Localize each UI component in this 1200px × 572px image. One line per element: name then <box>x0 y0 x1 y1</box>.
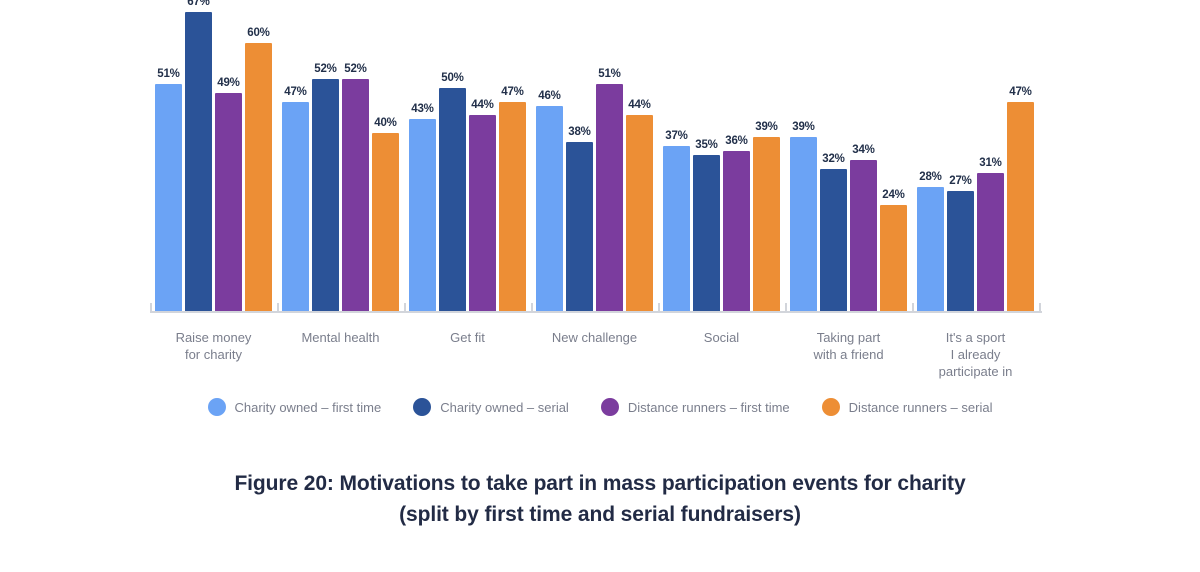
bar-column[interactable]: 34% <box>850 12 877 312</box>
bar-column[interactable]: 50% <box>439 12 466 312</box>
bar-column[interactable]: 40% <box>372 12 399 312</box>
bar[interactable] <box>566 142 593 312</box>
bar-value-label: 51% <box>157 68 179 80</box>
bar[interactable] <box>977 173 1004 312</box>
bar-column[interactable]: 47% <box>1007 12 1034 312</box>
bar-value-label: 43% <box>411 103 433 115</box>
bar[interactable] <box>155 84 182 312</box>
bar-value-label: 47% <box>1009 86 1031 98</box>
bar-column[interactable]: 24% <box>880 12 907 312</box>
bar[interactable] <box>439 88 466 312</box>
legend-color-swatch-icon <box>413 398 431 416</box>
category-label: Social <box>658 329 785 380</box>
bar[interactable] <box>215 93 242 312</box>
bar-value-label: 37% <box>665 130 687 142</box>
bar-column[interactable]: 37% <box>663 12 690 312</box>
category-label: Raise moneyfor charity <box>150 329 277 380</box>
bar-value-label: 67% <box>187 0 209 8</box>
bar-value-label: 39% <box>792 121 814 133</box>
bar[interactable] <box>282 102 309 312</box>
category-label-line: Taking part <box>785 329 912 346</box>
bar[interactable] <box>663 146 690 312</box>
category-label-line: participate in <box>912 363 1039 380</box>
bar[interactable] <box>409 119 436 312</box>
bar[interactable] <box>342 79 369 312</box>
legend-item[interactable]: Charity owned – first time <box>208 398 382 416</box>
bar-value-label: 50% <box>441 72 463 84</box>
bar[interactable] <box>790 137 817 312</box>
bar[interactable] <box>626 115 653 312</box>
axis-tick <box>150 303 152 312</box>
bar-value-label: 51% <box>598 68 620 80</box>
axis-tick <box>658 303 660 312</box>
bar-column[interactable]: 51% <box>596 12 623 312</box>
legend-color-swatch-icon <box>601 398 619 416</box>
legend-label: Distance runners – first time <box>628 400 790 415</box>
bar-value-label: 47% <box>501 86 523 98</box>
bar-column[interactable]: 28% <box>917 12 944 312</box>
bar-groups-container: 51%67%49%60%47%52%52%40%43%50%44%47%46%3… <box>150 12 1042 312</box>
bar[interactable] <box>536 106 563 312</box>
chart-legend: Charity owned – first timeCharity owned … <box>0 398 1200 416</box>
legend-color-swatch-icon <box>208 398 226 416</box>
bar-group: 37%35%36%39% <box>658 12 785 312</box>
legend-label: Charity owned – serial <box>440 400 569 415</box>
figure-container: 51%67%49%60%47%52%52%40%43%50%44%47%46%3… <box>0 0 1200 572</box>
bar[interactable] <box>723 151 750 312</box>
category-label: Taking partwith a friend <box>785 329 912 380</box>
bar-column[interactable]: 38% <box>566 12 593 312</box>
category-label-line: It's a sport <box>912 329 1039 346</box>
bar-value-label: 39% <box>755 121 777 133</box>
legend-color-swatch-icon <box>822 398 840 416</box>
x-axis-line <box>150 311 1042 313</box>
bar-column[interactable]: 39% <box>753 12 780 312</box>
bar-value-label: 52% <box>314 63 336 75</box>
bar[interactable] <box>185 12 212 312</box>
bar[interactable] <box>596 84 623 312</box>
bar-value-label: 44% <box>471 99 493 111</box>
axis-tick <box>277 303 279 312</box>
bar[interactable] <box>820 169 847 312</box>
bar-value-label: 47% <box>284 86 306 98</box>
bar-column[interactable]: 31% <box>977 12 1004 312</box>
bar-value-label: 32% <box>822 153 844 165</box>
bar-value-label: 27% <box>949 175 971 187</box>
bar-value-label: 46% <box>538 90 560 102</box>
bar-group: 51%67%49%60% <box>150 12 277 312</box>
legend-item[interactable]: Distance runners – serial <box>822 398 993 416</box>
bar[interactable] <box>469 115 496 312</box>
category-label-line: Raise money <box>150 329 277 346</box>
bar-column[interactable]: 36% <box>723 12 750 312</box>
bar-column[interactable]: 39% <box>790 12 817 312</box>
axis-tick <box>1039 303 1041 312</box>
bar[interactable] <box>880 205 907 312</box>
bar-column[interactable]: 52% <box>342 12 369 312</box>
caption-line-2: (split by first time and serial fundrais… <box>0 499 1200 530</box>
category-label-line: I already <box>912 346 1039 363</box>
category-label-line: for charity <box>150 346 277 363</box>
bar-group: 46%38%51%44% <box>531 12 658 312</box>
category-label: Mental health <box>277 329 404 380</box>
bar-value-label: 44% <box>628 99 650 111</box>
bar-column[interactable]: 27% <box>947 12 974 312</box>
category-label: It's a sportI alreadyparticipate in <box>912 329 1039 380</box>
bar-column[interactable]: 43% <box>409 12 436 312</box>
bar-column[interactable]: 51% <box>155 12 182 312</box>
bar-value-label: 36% <box>725 135 747 147</box>
bar-column[interactable]: 44% <box>469 12 496 312</box>
bar[interactable] <box>917 187 944 312</box>
bar-value-label: 34% <box>852 144 874 156</box>
axis-tick <box>404 303 406 312</box>
bar[interactable] <box>312 79 339 312</box>
bar-value-label: 52% <box>344 63 366 75</box>
bar-column[interactable]: 46% <box>536 12 563 312</box>
bar[interactable] <box>947 191 974 312</box>
axis-tick <box>912 303 914 312</box>
bar-column[interactable]: 47% <box>499 12 526 312</box>
bar-value-label: 40% <box>374 117 396 129</box>
bar-group: 43%50%44%47% <box>404 12 531 312</box>
category-label: New challenge <box>531 329 658 380</box>
x-axis-category-labels: Raise moneyfor charityMental healthGet f… <box>150 329 1042 380</box>
bar[interactable] <box>499 102 526 312</box>
axis-tick <box>785 303 787 312</box>
legend-item[interactable]: Charity owned – serial <box>413 398 569 416</box>
bar-value-label: 24% <box>882 189 904 201</box>
bar-column[interactable]: 47% <box>282 12 309 312</box>
category-label-line: New challenge <box>531 329 658 346</box>
bar-group: 39%32%34%24% <box>785 12 912 312</box>
category-label: Get fit <box>404 329 531 380</box>
figure-caption: Figure 20: Motivations to take part in m… <box>0 468 1200 530</box>
bar[interactable] <box>245 43 272 312</box>
bar[interactable] <box>753 137 780 312</box>
bar-column[interactable]: 67% <box>185 12 212 312</box>
bar-value-label: 60% <box>247 27 269 39</box>
category-label-line: Mental health <box>277 329 404 346</box>
bar-value-label: 35% <box>695 139 717 151</box>
legend-item[interactable]: Distance runners – first time <box>601 398 790 416</box>
bar-column[interactable]: 35% <box>693 12 720 312</box>
caption-line-1: Figure 20: Motivations to take part in m… <box>0 468 1200 499</box>
category-label-line: with a friend <box>785 346 912 363</box>
bar-group: 47%52%52%40% <box>277 12 404 312</box>
bar-column[interactable]: 44% <box>626 12 653 312</box>
bar[interactable] <box>372 133 399 312</box>
bar-column[interactable]: 32% <box>820 12 847 312</box>
bar-value-label: 28% <box>919 171 941 183</box>
axis-tick <box>531 303 533 312</box>
bar-column[interactable]: 49% <box>215 12 242 312</box>
chart-plot-area: 51%67%49%60%47%52%52%40%43%50%44%47%46%3… <box>150 12 1042 312</box>
bar-value-label: 49% <box>217 77 239 89</box>
category-label-line: Social <box>658 329 785 346</box>
bar[interactable] <box>693 155 720 312</box>
bar-value-label: 31% <box>979 157 1001 169</box>
bar-column[interactable]: 52% <box>312 12 339 312</box>
bar[interactable] <box>1007 102 1034 312</box>
bar-group: 28%27%31%47% <box>912 12 1039 312</box>
bar-value-label: 38% <box>568 126 590 138</box>
category-label-line: Get fit <box>404 329 531 346</box>
bar-column[interactable]: 60% <box>245 12 272 312</box>
legend-label: Distance runners – serial <box>849 400 993 415</box>
legend-label: Charity owned – first time <box>235 400 382 415</box>
bar[interactable] <box>850 160 877 312</box>
